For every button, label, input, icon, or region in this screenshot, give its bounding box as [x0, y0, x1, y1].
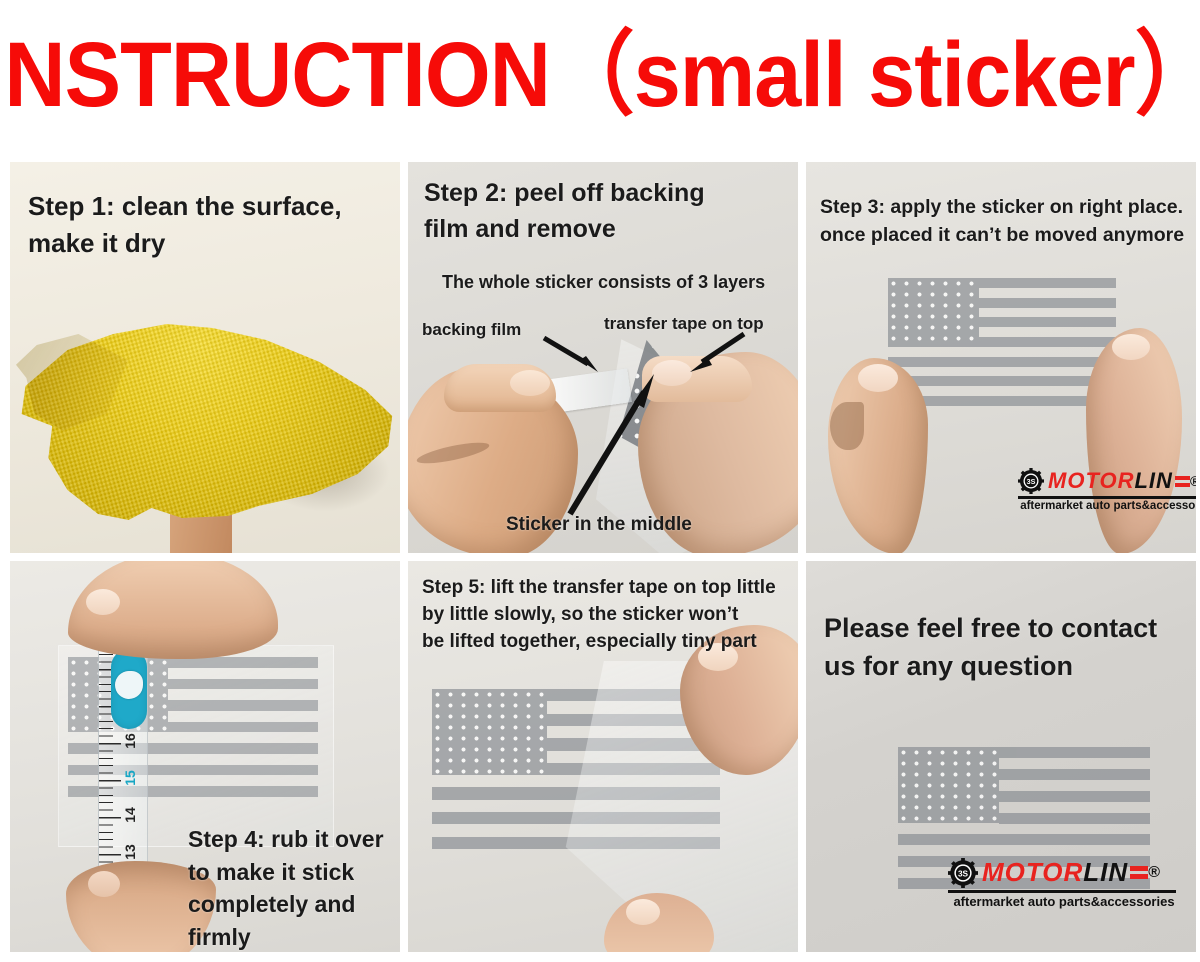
flag-stripe	[888, 376, 1116, 386]
flag-stripe	[168, 722, 318, 733]
gear-3s-icon: 3S	[1018, 468, 1044, 494]
sticker-middle-arrow-icon	[558, 368, 662, 518]
motorline-logo: 3S MOTORLIN ® aftermarket auto parts&acc…	[948, 857, 1180, 909]
logo-divider	[948, 890, 1176, 893]
logo-brand-red: MOTOR	[982, 857, 1083, 888]
flag-stripe	[999, 769, 1150, 780]
logo-tagline: aftermarket auto parts&accessories	[1018, 500, 1196, 512]
label-transfer-tape: transfer tape on top	[604, 312, 764, 336]
ruler-number: 14	[120, 802, 140, 828]
label-sticker-middle: Sticker in the middle	[506, 512, 692, 539]
flag-stripe	[979, 278, 1116, 288]
left-thumbnail	[858, 364, 898, 392]
top-hand	[68, 561, 278, 659]
gear-3s-icon: 3S	[948, 858, 978, 888]
logo-registered-mark: ®	[1148, 864, 1161, 882]
flag-stripe	[999, 747, 1150, 758]
svg-text:3S: 3S	[1027, 478, 1036, 486]
bottom-thumbnail	[626, 899, 660, 925]
logo-tagline: aftermarket auto parts&accessories	[948, 894, 1180, 909]
logo-brand-red: MOTOR	[1048, 468, 1134, 494]
panel-2-peel-backing: Step 2: peel off backing film and remove…	[408, 162, 798, 553]
page-title: INSTRUCTION（small sticker）	[0, 29, 1200, 121]
ruler-number: 16	[120, 728, 140, 754]
panel-6-caption: Please feel free to contact us for any q…	[824, 609, 1184, 686]
flag-stripe	[979, 337, 1116, 347]
flag-stripe	[979, 317, 1116, 327]
top-thumbnail	[86, 589, 120, 615]
label-backing-film: backing film	[422, 318, 521, 342]
panel-3-apply-sticker: 3S MOTORLIN ® aftermarket auto parts&acc…	[806, 162, 1196, 553]
logo-brand-black: LIN	[1083, 857, 1128, 888]
panel-1-caption: Step 1: clean the surface, make it dry	[28, 188, 388, 262]
panel-2-heading: Step 2: peel off backing film and remove	[424, 176, 782, 247]
panel-4-rub-over: 18 17 16 15 14 13 12 11 10 Step 4: rub i…	[10, 561, 400, 952]
ruler-number: 15	[120, 765, 140, 791]
flag-canton	[898, 747, 999, 823]
left-hand-crease	[415, 438, 490, 467]
panel-2-subtitle: The whole sticker consists of 3 layers	[442, 270, 792, 296]
logo-registered-mark: ®	[1190, 473, 1196, 489]
panel-5-caption: Step 5: lift the transfer tape on top li…	[422, 575, 796, 656]
flag-stripe	[999, 791, 1150, 802]
flag-stripe	[168, 700, 318, 711]
logo-equal-mark-icon	[1175, 476, 1190, 487]
bottom-thumbnail	[88, 871, 120, 897]
logo-brand-black: LIN	[1134, 468, 1172, 494]
logo-divider	[1018, 496, 1196, 499]
panel-6-contact: 3S MOTORLIN ® aftermarket auto parts&acc…	[806, 561, 1196, 952]
panel-3-caption: Step 3: apply the sticker on right place…	[820, 194, 1192, 249]
transfer-tape-arrow-icon	[682, 330, 752, 378]
flag-stripe	[999, 813, 1150, 824]
logo-equal-mark-icon	[1130, 866, 1148, 879]
fish-sticker-decoration	[111, 649, 147, 729]
panel-4-caption: Step 4: rub it over to make it stick com…	[188, 823, 398, 952]
left-hand	[828, 358, 928, 553]
flag-canton	[888, 278, 979, 347]
flag-decal	[888, 278, 1116, 406]
left-hand-gap	[830, 402, 864, 450]
right-thumbnail	[1112, 334, 1150, 360]
instruction-panel-grid: Step 1: clean the surface, make it dry	[10, 162, 1190, 952]
flag-stripe	[168, 679, 318, 690]
panel-5-lift-transfer-tape: Step 5: lift the transfer tape on top li…	[408, 561, 798, 952]
motorline-logo: 3S MOTORLIN ® aftermarket auto parts&acc…	[1018, 468, 1196, 512]
flag-stripe	[898, 834, 1150, 845]
panel-1-clean-surface: Step 1: clean the surface, make it dry	[10, 162, 400, 553]
right-hand	[1086, 328, 1182, 553]
fish-body	[115, 671, 143, 699]
header-banner: INSTRUCTION（small sticker）	[0, 0, 1200, 150]
flag-stripe	[888, 357, 1116, 367]
flag-stripe	[979, 298, 1116, 308]
svg-text:3S: 3S	[958, 869, 969, 878]
flag-canton	[432, 689, 547, 775]
cloth-photo	[10, 312, 400, 553]
